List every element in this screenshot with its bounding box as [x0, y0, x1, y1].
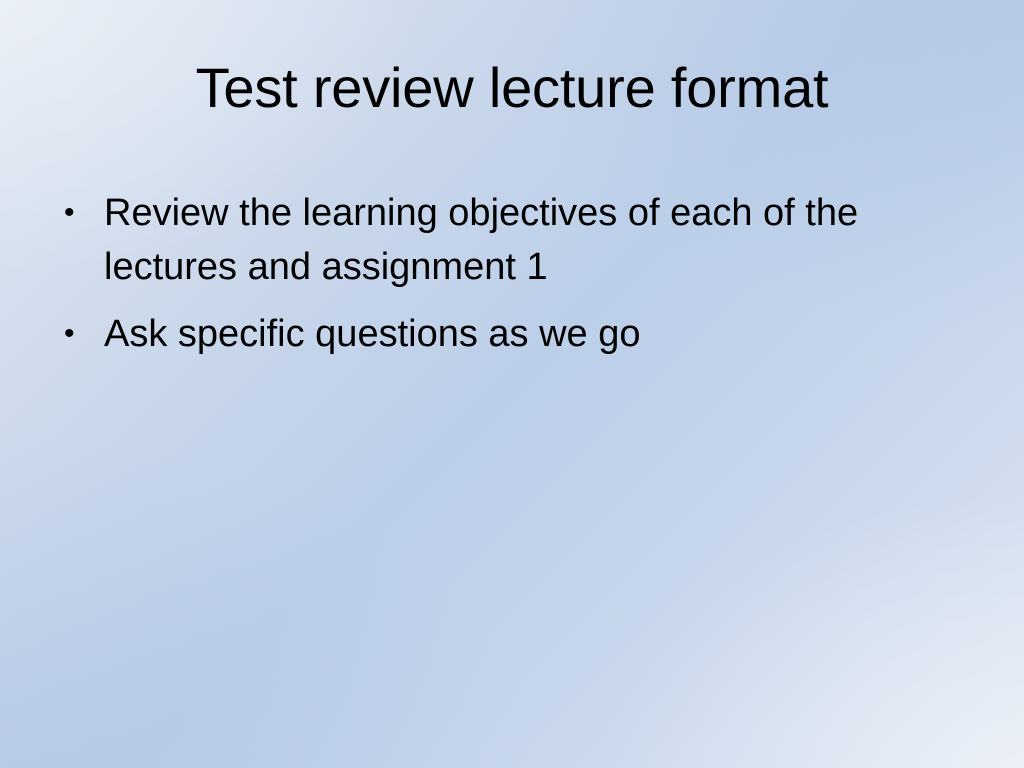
presentation-slide: Test review lecture format • Review the …	[0, 0, 1024, 768]
list-item: • Ask specific questions as we go	[58, 307, 970, 361]
bullet-text: Ask specific questions as we go	[104, 307, 946, 361]
bullet-point-icon: •	[58, 186, 104, 240]
slide-content-area: Test review lecture format • Review the …	[0, 0, 1024, 768]
list-item: • Review the learning objectives of each…	[58, 186, 970, 294]
slide-title: Test review lecture format	[60, 58, 964, 118]
bullet-point-icon: •	[58, 307, 104, 361]
bullet-text: Review the learning objectives of each o…	[104, 186, 946, 294]
slide-body-bullet-list: • Review the learning objectives of each…	[58, 186, 970, 361]
